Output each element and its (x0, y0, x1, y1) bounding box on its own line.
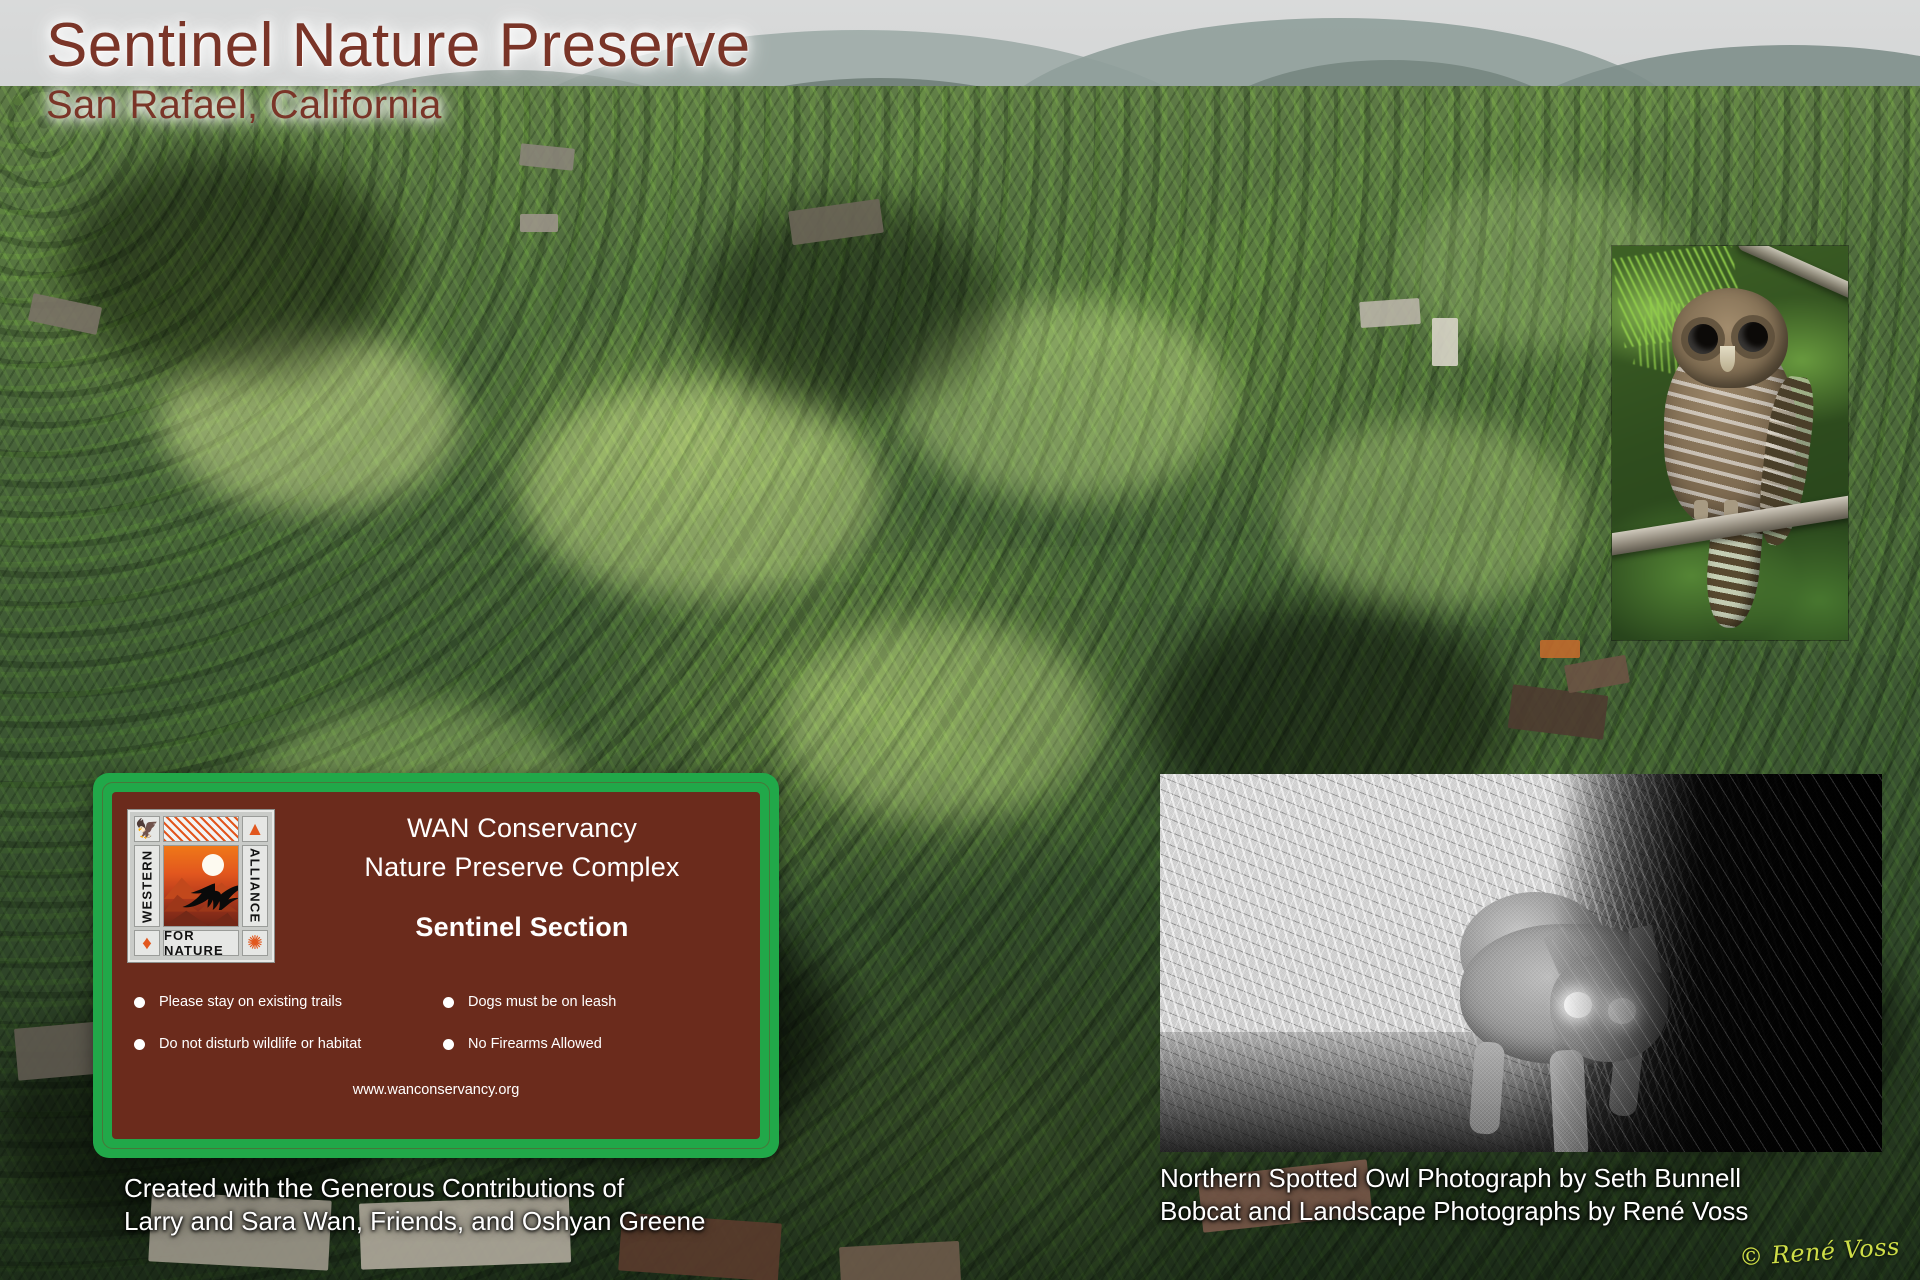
rule-item: Please stay on existing trails (134, 994, 433, 1010)
sunlit-canopy-patch (520, 380, 880, 600)
logo-word-right: ALLIANCE (242, 845, 268, 927)
rule-label: No Firearms Allowed (468, 1036, 602, 1052)
sun-icon (202, 854, 224, 876)
rule-item: Do not disturb wildlife or habitat (134, 1036, 433, 1052)
infrared-noise (1160, 774, 1882, 1152)
donor-credit-line2: Larry and Sara Wan, Friends, and Oshyan … (124, 1205, 705, 1238)
bobcat-photo-inset (1160, 774, 1882, 1152)
preserve-sign-panel: 🦅 ▲ WESTERN ALLIANCE ♦ (93, 773, 779, 1158)
wan-logo: 🦅 ▲ WESTERN ALLIANCE ♦ (128, 810, 274, 962)
sunlit-canopy-patch (780, 620, 1100, 820)
rooftop (1359, 298, 1421, 328)
bullet-icon (443, 997, 454, 1008)
turtle-glyph-icon: ✺ (242, 930, 268, 956)
sign-heading-line2: Nature Preserve Complex (364, 851, 679, 884)
sign-heading-block: WAN Conservancy Nature Preserve Complex … (298, 806, 746, 1129)
donor-credit-line1: Created with the Generous Contributions … (124, 1172, 705, 1205)
rule-label: Do not disturb wildlife or habitat (159, 1036, 361, 1052)
bullet-icon (134, 1039, 145, 1050)
canopy-shadow (60, 150, 400, 380)
thunderbird-glyph-icon: 🦅 (134, 816, 160, 842)
rule-label: Dogs must be on leash (468, 994, 616, 1010)
poster-header: Sentinel Nature Preserve San Rafael, Cal… (46, 14, 751, 128)
rule-item: No Firearms Allowed (443, 1036, 742, 1052)
logo-center-scene (163, 845, 239, 927)
southwest-pattern-band (163, 816, 239, 842)
sign-section-heading: Sentinel Section (415, 912, 628, 943)
bird-glyph-icon: ▲ (242, 816, 268, 842)
sign-face: 🦅 ▲ WESTERN ALLIANCE ♦ (112, 792, 760, 1139)
photo-credit-line2: Bobcat and Landscape Photographs by René… (1160, 1195, 1748, 1228)
photo-credit: Northern Spotted Owl Photograph by Seth … (1160, 1162, 1748, 1229)
owl-talon (1694, 500, 1708, 520)
antelope-glyph-icon: ♦ (134, 930, 160, 956)
sign-rules-list: Please stay on existing trails Dogs must… (134, 994, 742, 1052)
sign-inner-border: 🦅 ▲ WESTERN ALLIANCE ♦ (102, 782, 770, 1149)
page-subtitle: San Rafael, California (46, 83, 751, 128)
rooftop (520, 214, 558, 232)
sign-website-url[interactable]: www.wanconservancy.org (112, 1082, 760, 1098)
bullet-icon (443, 1039, 454, 1050)
donor-credit: Created with the Generous Contributions … (124, 1172, 705, 1239)
owl-beak (1720, 346, 1735, 372)
rooftop (1540, 640, 1580, 658)
rule-label: Please stay on existing trails (159, 994, 342, 1010)
sign-heading-line1: WAN Conservancy (407, 812, 637, 845)
rooftop (1432, 318, 1458, 366)
hawk-icon (178, 876, 239, 910)
rooftop (839, 1241, 961, 1280)
page-title: Sentinel Nature Preserve (46, 14, 751, 77)
owl-photo-inset (1612, 246, 1848, 640)
logo-word-left: WESTERN (134, 845, 160, 927)
rule-item: Dogs must be on leash (443, 994, 742, 1010)
poster-canvas: Sentinel Nature Preserve San Rafael, Cal… (0, 0, 1920, 1280)
owl-eye (1738, 322, 1768, 352)
bullet-icon (134, 997, 145, 1008)
sunlit-canopy-patch (1280, 420, 1580, 610)
logo-word-bottom: FOR NATURE (163, 930, 239, 956)
photo-credit-line1: Northern Spotted Owl Photograph by Seth … (1160, 1162, 1748, 1195)
owl-eye (1688, 324, 1718, 354)
